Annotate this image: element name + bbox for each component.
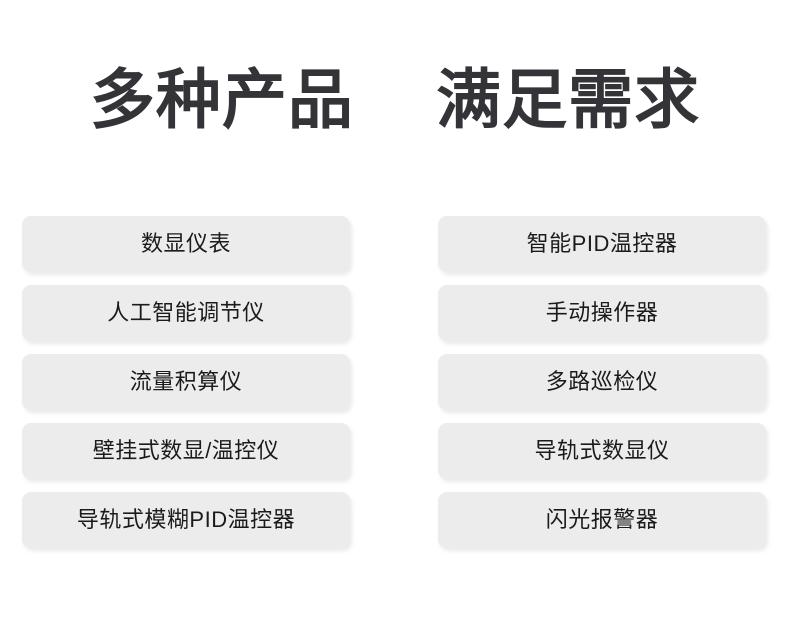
- page-title-segment-2: 满足需求: [436, 60, 700, 140]
- product-list-left-column: 数显仪表 人工智能调节仪 流量积算仪 壁挂式数显/温控仪 导轨式模糊PID温控器: [22, 216, 350, 548]
- product-item-label: 多路巡检仪: [546, 369, 659, 395]
- product-item-label: 人工智能调节仪: [107, 300, 265, 326]
- page-title: 多种产品 满足需求: [0, 60, 790, 140]
- product-item-label: 导轨式模糊PID温控器: [77, 507, 295, 533]
- product-item-label: 数显仪表: [141, 231, 231, 257]
- page-title-segment-1: 多种产品: [90, 60, 354, 140]
- product-item-label: 流量积算仪: [130, 369, 243, 395]
- product-list-columns: 数显仪表 人工智能调节仪 流量积算仪 壁挂式数显/温控仪 导轨式模糊PID温控器…: [22, 216, 766, 548]
- product-item-multi-channel-scanner[interactable]: 多路巡检仪: [438, 354, 766, 410]
- product-item-wall-mount-display-temp-controller[interactable]: 壁挂式数显/温控仪: [22, 423, 350, 479]
- product-item-din-rail-digital-display[interactable]: 导轨式数显仪: [438, 423, 766, 479]
- product-item-ai-controller[interactable]: 人工智能调节仪: [22, 285, 350, 341]
- product-item-label: 闪光报警器: [546, 507, 659, 533]
- product-item-flow-totalizer[interactable]: 流量积算仪: [22, 354, 350, 410]
- product-list-right-column: 智能PID温控器 手动操作器 多路巡检仪 导轨式数显仪 闪光报警器: [438, 216, 766, 548]
- product-item-label: 壁挂式数显/温控仪: [93, 438, 280, 464]
- product-item-flash-alarm[interactable]: 闪光报警器: [438, 492, 766, 548]
- product-item-din-rail-fuzzy-pid-temp-controller[interactable]: 导轨式模糊PID温控器: [22, 492, 350, 548]
- product-category-banner: 多种产品 满足需求 数显仪表 人工智能调节仪 流量积算仪 壁挂式数显/温控仪 导…: [0, 0, 790, 626]
- product-item-smart-pid-temp-controller[interactable]: 智能PID温控器: [438, 216, 766, 272]
- product-item-label: 导轨式数显仪: [534, 438, 669, 464]
- product-item-label: 智能PID温控器: [527, 231, 678, 257]
- product-item-manual-operator[interactable]: 手动操作器: [438, 285, 766, 341]
- product-item-label: 手动操作器: [546, 300, 659, 326]
- product-item-digital-display-meter[interactable]: 数显仪表: [22, 216, 350, 272]
